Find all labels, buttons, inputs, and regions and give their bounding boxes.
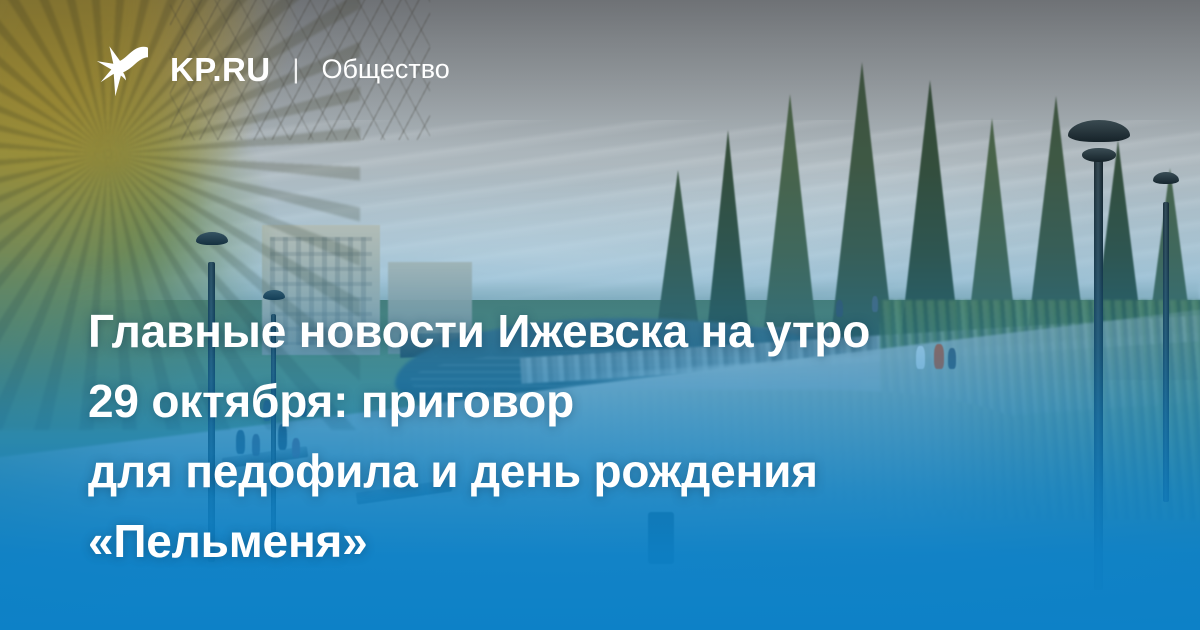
headline-line-4: «Пельменя» bbox=[88, 506, 1108, 576]
social-share-card: KP.RU | Общество Главные новости Ижевска… bbox=[0, 0, 1200, 630]
headline-line-2: 29 октября: приговор bbox=[88, 366, 1108, 436]
rubric-label[interactable]: Общество bbox=[321, 56, 449, 83]
brand-header: KP.RU | Общество bbox=[96, 41, 450, 97]
headline-line-1: Главные новости Ижевска на утро bbox=[88, 296, 1108, 366]
headline-line-3: для педофила и день рождения bbox=[88, 436, 1108, 506]
headline: Главные новости Ижевска на утро 29 октяб… bbox=[88, 296, 1108, 576]
brand-name[interactable]: KP.RU bbox=[170, 53, 270, 86]
swallow-bird-icon[interactable] bbox=[96, 41, 148, 97]
brand-separator: | bbox=[292, 56, 299, 83]
